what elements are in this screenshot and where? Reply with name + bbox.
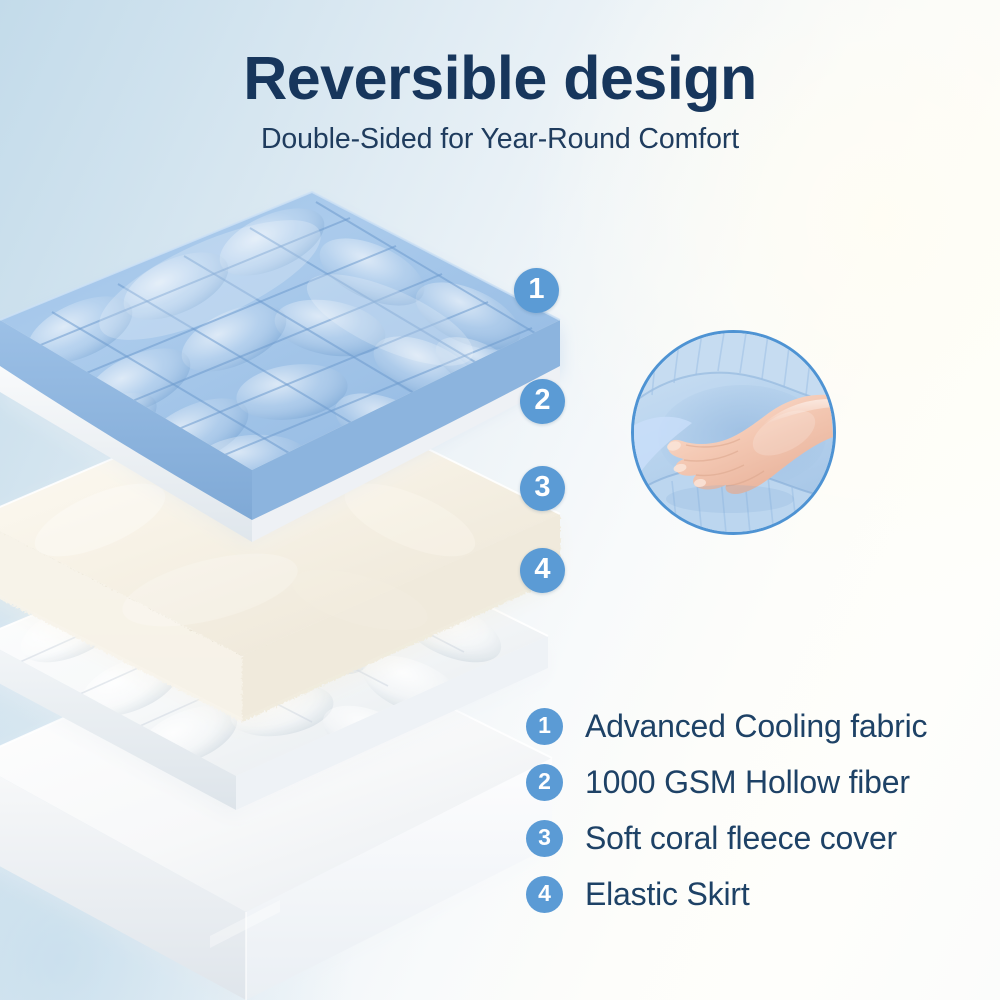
legend-badge-3-number: 3 (538, 826, 551, 849)
callout-badge-1-number: 1 (528, 275, 544, 304)
callout-badge-4-number: 4 (534, 555, 550, 584)
legend-list: 1 Advanced Cooling fabric 2 1000 GSM Hol… (526, 698, 927, 922)
legend-badge-2: 2 (526, 764, 563, 801)
legend-badge-4: 4 (526, 876, 563, 913)
legend-badge-3: 3 (526, 820, 563, 857)
infographic-canvas: Reversible design Double-Sided for Year-… (0, 0, 1000, 1000)
callout-badge-3-number: 3 (534, 473, 550, 502)
legend-badge-1-number: 1 (538, 714, 551, 737)
callout-badge-1: 1 (514, 268, 559, 313)
hand-press-illustration (634, 333, 833, 532)
page-title: Reversible design (0, 46, 1000, 110)
legend-item-1: 1 Advanced Cooling fabric (526, 698, 927, 754)
legend-badge-1: 1 (526, 708, 563, 745)
callout-badge-2-number: 2 (534, 386, 550, 415)
legend-badge-2-number: 2 (538, 770, 551, 793)
header-block: Reversible design Double-Sided for Year-… (0, 46, 1000, 156)
legend-label-4: Elastic Skirt (585, 876, 750, 913)
legend-item-2: 2 1000 GSM Hollow fiber (526, 754, 927, 810)
legend-label-3: Soft coral fleece cover (585, 820, 897, 857)
page-subtitle: Double-Sided for Year-Round Comfort (0, 123, 1000, 156)
callout-badge-3: 3 (520, 466, 565, 511)
callout-badge-4: 4 (520, 548, 565, 593)
hand-press-inset-circle (631, 330, 836, 535)
legend-label-2: 1000 GSM Hollow fiber (585, 764, 910, 801)
legend-item-4: 4 Elastic Skirt (526, 866, 927, 922)
legend-badge-4-number: 4 (538, 882, 551, 905)
callout-badge-2: 2 (520, 379, 565, 424)
legend-label-1: Advanced Cooling fabric (585, 708, 927, 745)
legend-item-3: 3 Soft coral fleece cover (526, 810, 927, 866)
